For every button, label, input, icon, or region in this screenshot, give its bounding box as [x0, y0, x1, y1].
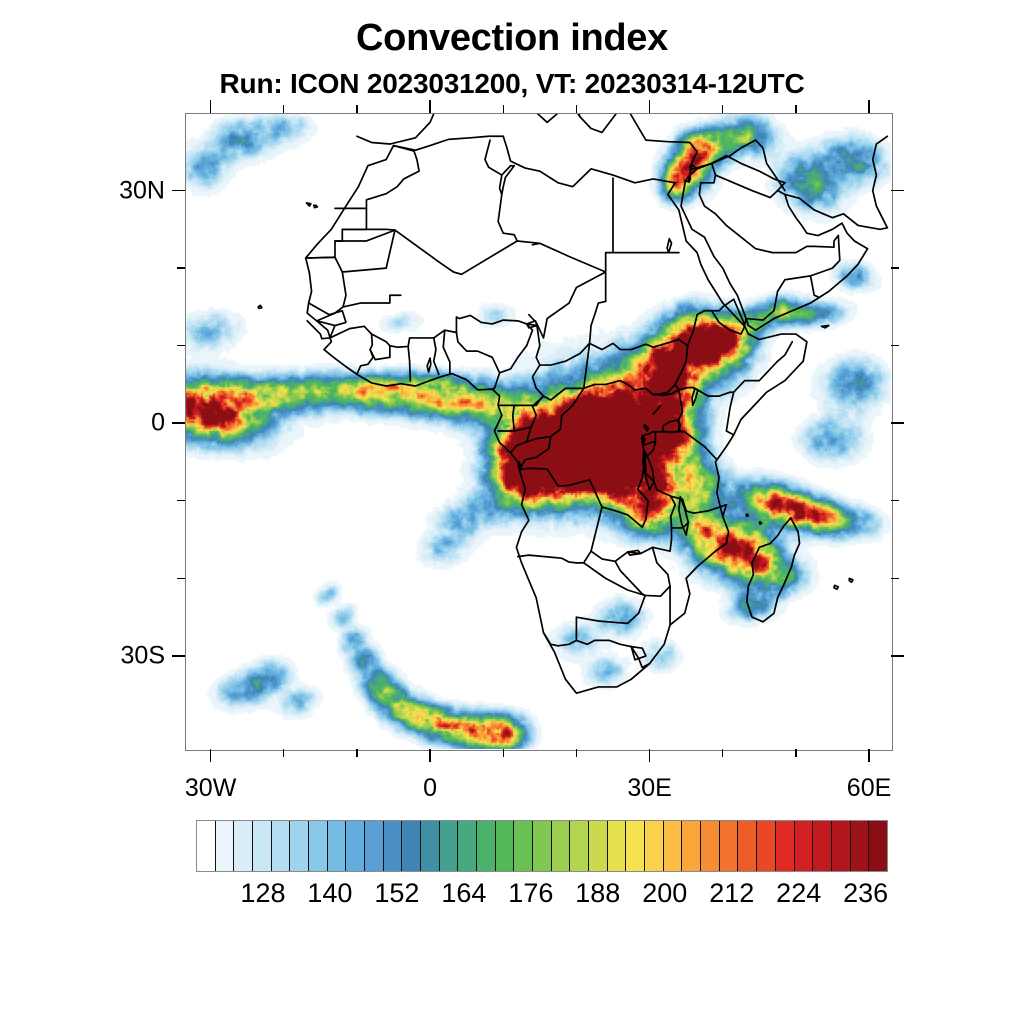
- geo-boundary-path: [759, 522, 761, 524]
- colorbar-tick-label: 140: [307, 878, 352, 909]
- geo-boundary-path: [606, 178, 613, 272]
- axis-tick-major: [868, 749, 870, 762]
- colorbar-cell: [757, 821, 776, 871]
- colorbar-cell: [496, 821, 515, 871]
- colorbar-cell: [664, 821, 683, 871]
- axis-tick-minor: [722, 105, 723, 113]
- geo-boundary-path: [443, 330, 450, 373]
- y-axis-label: 30S: [80, 641, 165, 670]
- axis-tick-major: [172, 655, 185, 657]
- run-valid-time-subtitle: Run: ICON 2023031200, VT: 20230314-12UTC: [0, 68, 1024, 100]
- axis-tick-major: [429, 100, 431, 113]
- geo-boundary-path: [584, 343, 590, 388]
- geo-boundary-path: [811, 236, 840, 276]
- colorbar-cell: [851, 821, 870, 871]
- colorbar-cell: [813, 821, 832, 871]
- colorbar-tick-label: 176: [508, 878, 553, 909]
- axis-tick-minor: [177, 267, 185, 268]
- geo-boundary-path: [434, 338, 439, 374]
- colorbar-tick-label: 152: [374, 878, 419, 909]
- geo-boundary-path: [492, 113, 580, 117]
- geo-boundary-path: [645, 547, 670, 596]
- colorbar-cell: [589, 821, 608, 871]
- colorbar-cell: [552, 821, 571, 871]
- colorbar-tick-label: 212: [709, 878, 754, 909]
- geo-boundary-path: [342, 229, 395, 230]
- geo-boundary-path: [873, 136, 888, 228]
- geo-boundary-path: [485, 140, 502, 175]
- colorbar-cell: [234, 821, 253, 871]
- geo-boundary-path: [691, 163, 839, 252]
- geo-boundary-path: [712, 140, 785, 190]
- colorbar-cell: [402, 821, 421, 871]
- colorbar-cell: [477, 821, 496, 871]
- axis-tick-minor: [503, 749, 504, 757]
- geo-boundary-path: [747, 518, 800, 622]
- colorbar-cell: [253, 821, 272, 871]
- geo-boundary-path: [695, 342, 792, 396]
- colorbar-cell: [458, 821, 477, 871]
- x-axis-label: 60E: [847, 774, 891, 803]
- figure-root: Convection index Run: ICON 2023031200, V…: [0, 0, 1024, 1024]
- geo-boundary-path: [511, 436, 551, 452]
- map-plot-area[interactable]: [185, 113, 891, 749]
- geo-boundary-path: [343, 295, 401, 307]
- colorbar-tick-label: 200: [642, 878, 687, 909]
- axis-tick-minor: [356, 105, 357, 113]
- geo-boundary-path: [529, 272, 606, 338]
- country-borders-overlay: [185, 113, 891, 749]
- colorbar-cell: [570, 821, 589, 871]
- geo-boundary-path: [306, 203, 310, 206]
- axis-tick-major: [172, 190, 185, 192]
- geo-boundary-path: [834, 585, 838, 589]
- colorbar-cell: [795, 821, 814, 871]
- colorbar-cells[interactable]: [196, 820, 888, 872]
- colorbar-cell: [533, 821, 552, 871]
- geo-boundary-path: [309, 303, 346, 326]
- geo-boundary-path: [849, 578, 853, 582]
- axis-tick-major: [429, 749, 431, 762]
- geo-boundary-path: [645, 442, 726, 516]
- geo-boundary-path: [514, 396, 543, 405]
- axis-tick-minor: [891, 345, 899, 346]
- geo-boundary-path: [653, 405, 660, 414]
- colorbar-cell: [328, 821, 347, 871]
- geo-boundary-path: [500, 324, 533, 373]
- geo-boundary-path: [306, 136, 807, 693]
- axis-tick-minor: [283, 105, 284, 113]
- colorbar-tick-label: 164: [441, 878, 486, 909]
- x-axis-label: 0: [423, 774, 437, 803]
- colorbar-cell: [626, 821, 645, 871]
- axis-tick-minor: [795, 749, 796, 757]
- geo-boundary-path: [306, 208, 367, 258]
- axis-tick-minor: [795, 105, 796, 113]
- geo-boundary-path: [519, 388, 583, 469]
- geo-boundary-path: [822, 326, 829, 328]
- geo-boundary-path: [498, 166, 517, 241]
- axis-tick-major: [210, 100, 212, 113]
- geo-boundary-path: [715, 175, 777, 197]
- geo-boundary-path: [314, 205, 318, 207]
- geo-boundary-path: [335, 146, 419, 209]
- axis-tick-major: [649, 100, 651, 113]
- colorbar-cell: [645, 821, 664, 871]
- colorbar-cell: [832, 821, 851, 871]
- geo-boundary-path: [519, 458, 648, 527]
- colorbar-tick-label: 128: [240, 878, 285, 909]
- x-axis-label: 30W: [185, 774, 236, 803]
- geo-boundary-path: [745, 276, 818, 325]
- axis-tick-major: [891, 655, 904, 657]
- geo-boundary-path: [518, 507, 602, 563]
- colorbar-cell: [309, 821, 328, 871]
- geo-boundary-path: [644, 425, 648, 431]
- page-title: Convection index: [0, 17, 1024, 60]
- colorbar-tick-label: 236: [843, 878, 888, 909]
- axis-tick-minor: [722, 749, 723, 757]
- geo-boundary-path: [628, 113, 698, 167]
- colorbar[interactable]: 128140152164176188200212224236: [196, 820, 888, 872]
- axis-tick-major: [891, 422, 904, 424]
- colorbar-cell: [701, 821, 720, 871]
- colorbar-cell: [421, 821, 440, 871]
- colorbar-cell: [776, 821, 795, 871]
- geo-boundary-path: [456, 333, 499, 390]
- axis-tick-minor: [177, 500, 185, 501]
- geo-boundary-path: [558, 595, 645, 645]
- axis-tick-minor: [503, 105, 504, 113]
- axis-tick-major: [172, 422, 185, 424]
- geo-boundary-path: [590, 339, 688, 349]
- colorbar-cell: [682, 821, 701, 871]
- geo-boundary-path: [258, 305, 262, 308]
- axis-tick-minor: [177, 345, 185, 346]
- axis-tick-minor: [177, 578, 185, 579]
- colorbar-cell: [514, 821, 533, 871]
- axis-tick-minor: [283, 749, 284, 757]
- axis-tick-minor: [576, 749, 577, 757]
- geo-boundary-path: [335, 230, 517, 274]
- colorbar-cell: [346, 821, 365, 871]
- y-axis-label: 0: [80, 409, 165, 438]
- axis-tick-major: [210, 749, 212, 762]
- geo-boundary-path: [576, 640, 649, 667]
- axis-tick-minor: [891, 578, 899, 579]
- axis-tick-major: [649, 749, 651, 762]
- axis-tick-minor: [891, 267, 899, 268]
- axis-tick-major: [891, 190, 904, 192]
- geo-boundary-path: [692, 388, 698, 405]
- x-axis-label: 30E: [627, 774, 671, 803]
- geo-boundary-path: [456, 315, 526, 332]
- geo-boundary-path: [408, 346, 410, 380]
- axis-tick-minor: [356, 749, 357, 757]
- colorbar-cell: [290, 821, 309, 871]
- geo-boundary-path: [688, 299, 745, 346]
- geo-boundary-path: [667, 239, 671, 253]
- geo-boundary-path: [726, 392, 733, 435]
- colorbar-cell: [869, 821, 887, 871]
- colorbar-cell: [608, 821, 627, 871]
- geo-boundary-path: [533, 243, 540, 245]
- geo-boundary-path: [527, 324, 590, 365]
- colorbar-cell: [440, 821, 459, 871]
- geo-boundary-path: [527, 396, 544, 442]
- geo-boundary-path: [672, 523, 689, 528]
- colorbar-cell: [365, 821, 384, 871]
- geo-boundary-path: [746, 514, 748, 516]
- geo-boundary-path: [675, 346, 695, 390]
- colorbar-tick-label: 188: [575, 878, 620, 909]
- colorbar-cell: [272, 821, 291, 871]
- colorbar-cell: [216, 821, 235, 871]
- geo-boundary-path: [615, 496, 675, 561]
- axis-tick-minor: [891, 500, 899, 501]
- colorbar-cell: [384, 821, 403, 871]
- geo-boundary-path: [500, 405, 515, 431]
- geo-boundary-path: [679, 390, 717, 460]
- geo-boundary-path: [427, 358, 431, 372]
- y-axis-label: 30N: [80, 176, 165, 205]
- geo-boundary-path: [663, 420, 681, 432]
- geo-boundary-path: [543, 633, 558, 646]
- axis-tick-major: [868, 100, 870, 113]
- geo-boundary-path: [342, 230, 395, 272]
- geo-boundary-path: [502, 166, 514, 195]
- colorbar-tick-label: 224: [776, 878, 821, 909]
- axis-tick-minor: [576, 105, 577, 113]
- colorbar-cell: [720, 821, 739, 871]
- geo-boundary-path: [330, 326, 373, 374]
- colorbar-cell: [197, 821, 216, 871]
- geo-boundary-path: [584, 563, 645, 596]
- colorbar-cell: [738, 821, 757, 871]
